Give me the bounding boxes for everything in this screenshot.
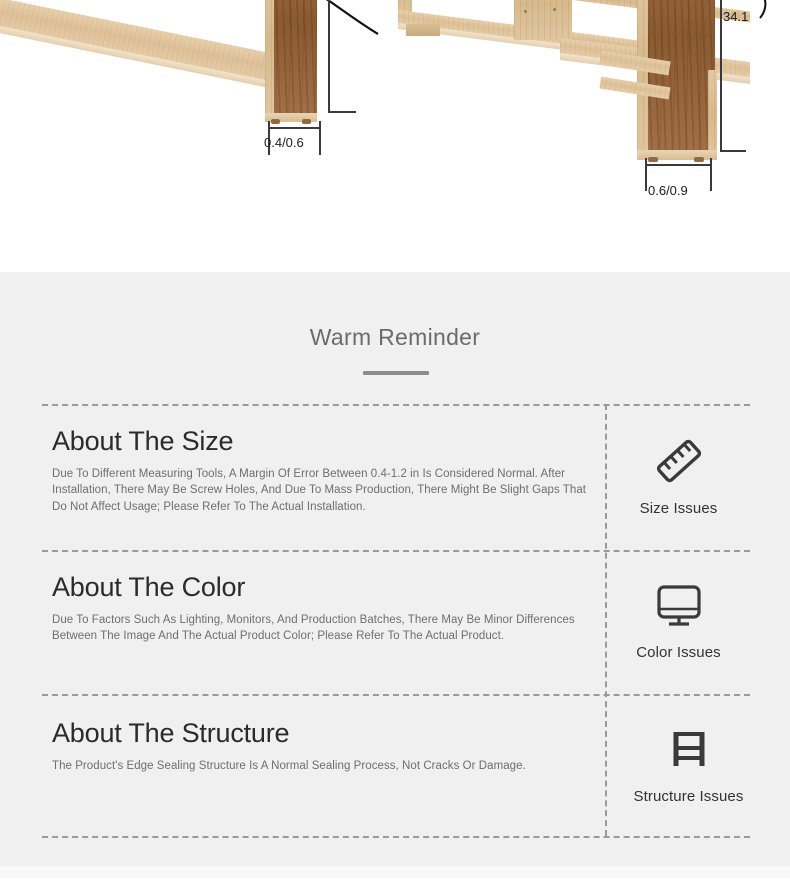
left-leg-glide-b xyxy=(302,119,311,124)
reminder-row-structure: About The Structure The Product's Edge S… xyxy=(42,694,750,836)
furniture-assembly-diagram: 0.4/0.6 34.1 0.6/0.9 xyxy=(0,0,790,272)
grid-hline-bottom xyxy=(42,836,750,838)
warm-reminder-section: Warm Reminder About The Size Due To Diff… xyxy=(0,272,790,866)
left-leg-edge xyxy=(265,0,274,118)
middle-divider-panel xyxy=(514,0,572,40)
title-underline xyxy=(363,371,429,375)
dimension-label-2: 34.1 xyxy=(723,9,748,24)
color-heading: About The Color xyxy=(52,572,597,603)
right-dim-left-ext xyxy=(645,158,647,191)
size-heading: About The Size xyxy=(52,426,597,457)
right-leg-glide-a xyxy=(648,157,658,162)
left-dim-tick xyxy=(328,111,356,113)
size-body-text: Due To Different Measuring Tools, A Marg… xyxy=(52,466,597,515)
dimension-label-1: 0.6/0.9 xyxy=(648,183,688,198)
right-leg-post xyxy=(637,0,715,158)
right-dim-vertical xyxy=(720,0,722,151)
size-text-column: About The Size Due To Different Measurin… xyxy=(52,426,597,515)
color-icon-label: Color Issues xyxy=(607,644,750,661)
left-leg-glide-a xyxy=(271,119,280,124)
color-text-column: About The Color Due To Factors Such As L… xyxy=(52,572,597,645)
reminder-grid: About The Size Due To Different Measurin… xyxy=(42,404,750,836)
right-dim-right-ext xyxy=(710,158,712,191)
product-detail-page: 0.4/0.6 34.1 0.6/0.9 xyxy=(0,0,790,885)
monitor-icon xyxy=(607,574,750,636)
right-leg-glide-b xyxy=(694,157,704,162)
color-body-text: Due To Factors Such As Lighting, Monitor… xyxy=(52,612,597,645)
reminder-row-color: About The Color Due To Factors Such As L… xyxy=(42,550,750,694)
right-leg-notch xyxy=(708,70,717,158)
structure-icon-label: Structure Issues xyxy=(617,788,760,805)
callout-curve-right xyxy=(752,0,776,22)
structure-body-text: The Product's Edge Sealing Structure Is … xyxy=(52,758,612,774)
callout-curve xyxy=(320,0,390,44)
structure-icon-column: Structure Issues xyxy=(617,718,760,805)
dimension-label-0: 0.4/0.6 xyxy=(264,135,304,150)
ruler-icon xyxy=(607,430,750,492)
structure-text-column: About The Structure The Product's Edge S… xyxy=(52,718,612,774)
reminder-row-size: About The Size Due To Different Measurin… xyxy=(42,404,750,550)
structure-heading: About The Structure xyxy=(52,718,612,749)
bottom-light-strip xyxy=(0,866,790,878)
ladder-shelf-icon xyxy=(617,718,760,780)
bottom-white-strip xyxy=(0,878,790,885)
color-icon-column: Color Issues xyxy=(607,574,750,661)
left-dim-arrow xyxy=(268,127,321,129)
right-dim-tick xyxy=(720,150,746,152)
screw-hole-b xyxy=(553,8,556,11)
size-icon-label: Size Issues xyxy=(607,500,750,517)
screw-hole-a xyxy=(524,10,527,13)
size-icon-column: Size Issues xyxy=(607,430,750,517)
right-leg-edge xyxy=(637,0,648,158)
left-dim-vertical xyxy=(328,0,330,112)
warm-reminder-title: Warm Reminder xyxy=(0,324,790,351)
middle-shelf-support xyxy=(406,24,440,36)
right-dim-arrow xyxy=(645,164,711,166)
